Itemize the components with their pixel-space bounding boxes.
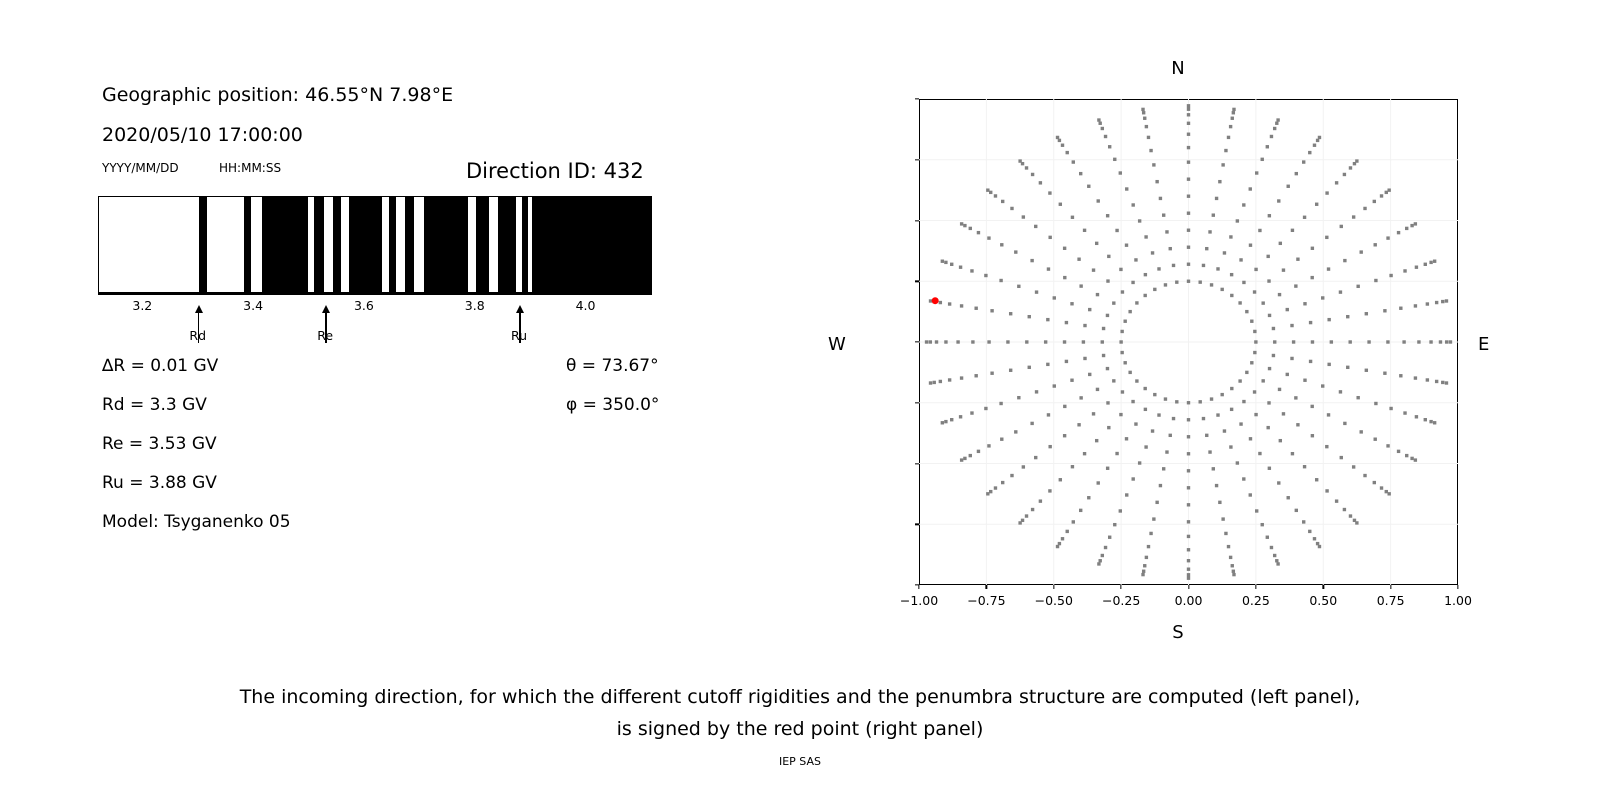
penumbra-forbidden-band xyxy=(349,197,382,292)
direction-point xyxy=(1441,381,1444,384)
direction-point xyxy=(1135,379,1138,382)
direction-point xyxy=(1066,530,1069,533)
direction-point xyxy=(1310,276,1313,279)
direction-point xyxy=(1250,361,1253,364)
direction-point xyxy=(1113,158,1116,161)
direction-point xyxy=(990,372,993,375)
direction-point xyxy=(1397,450,1400,453)
direction-point xyxy=(1121,390,1124,393)
direction-point xyxy=(1245,310,1248,313)
direction-point xyxy=(1198,280,1201,283)
direction-point xyxy=(1128,371,1131,374)
direction-point xyxy=(925,340,928,343)
direction-point xyxy=(1311,340,1314,343)
direction-point xyxy=(1208,230,1211,233)
direction-point xyxy=(1212,213,1215,216)
direction-point xyxy=(1386,444,1389,447)
direction-point xyxy=(960,222,963,225)
direction-point xyxy=(1108,145,1111,148)
direction-point xyxy=(1321,384,1324,387)
direction-point xyxy=(1187,401,1190,404)
direction-point xyxy=(1277,199,1280,202)
direction-point xyxy=(1079,509,1082,512)
direction-point xyxy=(1367,340,1370,343)
direction-point xyxy=(1144,408,1147,411)
direction-point xyxy=(1232,573,1235,576)
direction-point xyxy=(1216,267,1219,270)
direction-point xyxy=(1095,439,1098,442)
scatter-points-layer xyxy=(919,99,1458,585)
direction-point xyxy=(1279,439,1282,442)
direction-point xyxy=(1187,212,1190,215)
direction-point xyxy=(1296,423,1299,426)
direction-point xyxy=(1031,508,1034,511)
direction-point xyxy=(1000,438,1003,441)
direction-point xyxy=(1261,158,1264,161)
direction-point xyxy=(1018,159,1021,162)
direction-point xyxy=(1325,445,1328,448)
direction-point xyxy=(944,261,947,264)
direction-point xyxy=(1261,301,1264,304)
direction-point xyxy=(1082,340,1085,343)
direction-point xyxy=(1115,452,1118,455)
direction-point xyxy=(1162,467,1165,470)
direction-point xyxy=(1035,390,1038,393)
direction-point xyxy=(1155,180,1158,183)
direction-point xyxy=(1187,576,1190,579)
direction-point xyxy=(1287,185,1290,188)
direction-point xyxy=(1107,426,1110,429)
param-theta: θ = 73.67° xyxy=(566,356,659,376)
direction-point xyxy=(987,236,990,239)
direction-point xyxy=(1106,279,1109,282)
direction-point xyxy=(1426,302,1429,305)
direction-point xyxy=(1374,243,1377,246)
direction-point xyxy=(1258,452,1261,455)
direction-point xyxy=(1025,340,1028,343)
direction-point xyxy=(1230,408,1233,411)
direction-point xyxy=(1250,320,1253,323)
direction-point xyxy=(1061,537,1064,540)
direction-point xyxy=(1229,445,1232,448)
direction-point xyxy=(1009,369,1012,372)
direction-point xyxy=(1187,535,1190,538)
direction-point xyxy=(1403,411,1406,414)
caption-line-1: The incoming direction, for which the di… xyxy=(240,686,1361,708)
direction-point xyxy=(1360,430,1363,433)
direction-point xyxy=(1386,236,1389,239)
direction-point xyxy=(1399,307,1402,310)
direction-point xyxy=(1006,340,1009,343)
direction-point xyxy=(1095,242,1098,245)
direction-point xyxy=(1339,390,1342,393)
direction-point xyxy=(1022,465,1025,468)
direction-point xyxy=(1278,388,1281,391)
direction-point xyxy=(1169,247,1172,250)
direction-point xyxy=(1215,197,1218,200)
caption-line-2: is signed by the red point (right panel) xyxy=(617,718,984,740)
direction-point xyxy=(1112,379,1115,382)
direction-point xyxy=(1187,573,1190,576)
direction-point xyxy=(1063,405,1066,408)
direction-point xyxy=(1230,294,1233,297)
direction-point xyxy=(1290,324,1293,327)
direction-point xyxy=(1144,273,1147,276)
direction-point xyxy=(1157,267,1160,270)
direction-point xyxy=(1187,469,1190,472)
direction-point xyxy=(1343,173,1346,176)
direction-point xyxy=(1030,259,1033,262)
direction-point xyxy=(1187,146,1190,149)
direction-point xyxy=(1059,478,1062,481)
y-axis-tick xyxy=(915,220,919,221)
direction-point xyxy=(1149,532,1152,535)
direction-point xyxy=(1229,235,1232,238)
direction-point xyxy=(1236,461,1239,464)
date-format-hint: YYYY/MM/DD xyxy=(102,161,179,175)
direction-point xyxy=(1327,267,1330,270)
direction-point xyxy=(986,188,989,191)
direction-point xyxy=(1266,536,1269,539)
direction-point xyxy=(990,309,993,312)
direction-point xyxy=(1014,430,1017,433)
penumbra-forbidden-band xyxy=(424,197,468,292)
direction-point xyxy=(1056,136,1059,139)
direction-point xyxy=(1363,207,1366,210)
direction-point xyxy=(1232,111,1235,114)
x-tick-label: −1.00 xyxy=(900,593,938,608)
direction-point xyxy=(1210,283,1213,286)
direction-point xyxy=(1175,280,1178,283)
direction-point xyxy=(939,380,942,383)
penumbra-tick-label: 3.6 xyxy=(354,298,374,313)
direction-point xyxy=(1083,357,1086,360)
direction-point xyxy=(999,402,1002,405)
direction-point xyxy=(1282,412,1285,415)
direction-point xyxy=(1270,135,1273,138)
y-axis-tick xyxy=(915,159,919,160)
direction-point xyxy=(1144,445,1147,448)
direction-point xyxy=(948,302,951,305)
direction-point xyxy=(1286,373,1289,376)
direction-point xyxy=(1424,263,1427,266)
direction-point xyxy=(1365,369,1368,372)
direction-point xyxy=(1063,434,1066,437)
time-format-hint: HH:MM:SS xyxy=(219,161,281,175)
direction-point xyxy=(1108,536,1111,539)
direction-point xyxy=(1097,199,1100,202)
direction-point xyxy=(1414,222,1417,225)
direction-point xyxy=(1079,172,1082,175)
direction-point xyxy=(1290,357,1293,360)
direction-point xyxy=(984,274,987,277)
direction-point xyxy=(1087,185,1090,188)
direction-point xyxy=(1048,489,1051,492)
penumbra-tick-label: 4.0 xyxy=(576,298,596,313)
direction-point xyxy=(1107,255,1110,258)
direction-point xyxy=(959,415,962,418)
direction-point xyxy=(1202,264,1205,267)
direction-point xyxy=(1212,467,1215,470)
direction-point xyxy=(1302,160,1305,163)
direction-point xyxy=(1254,268,1257,271)
direction-point xyxy=(960,376,963,379)
direction-point xyxy=(1303,216,1306,219)
direction-point xyxy=(1101,127,1104,130)
direction-point xyxy=(1017,285,1020,288)
direction-point xyxy=(1134,258,1137,261)
direction-point xyxy=(989,191,992,194)
direction-point xyxy=(1187,104,1190,107)
direction-point xyxy=(1433,421,1436,424)
direction-point xyxy=(1147,545,1150,548)
direction-point xyxy=(1077,423,1080,426)
direction-point xyxy=(1034,456,1037,459)
direction-point xyxy=(994,194,997,197)
direction-point xyxy=(1145,125,1148,128)
direction-point xyxy=(1239,258,1242,261)
direction-point xyxy=(1383,372,1386,375)
direction-point xyxy=(959,266,962,269)
direction-point xyxy=(1153,288,1156,291)
direction-point xyxy=(1131,400,1134,403)
direction-point xyxy=(1143,564,1146,567)
direction-point xyxy=(1374,279,1377,282)
direction-point xyxy=(1101,340,1104,343)
direction-point xyxy=(1360,250,1363,253)
penumbra-tick-label: 3.2 xyxy=(132,298,152,313)
direction-point xyxy=(950,263,953,266)
direction-point xyxy=(1380,194,1383,197)
direction-point xyxy=(1294,284,1297,287)
penumbra-forbidden-band xyxy=(498,197,516,292)
direction-point xyxy=(1261,379,1264,382)
direction-point xyxy=(1343,422,1346,425)
direction-point xyxy=(1315,478,1318,481)
direction-point xyxy=(944,420,947,423)
direction-point xyxy=(1120,351,1123,354)
direction-point xyxy=(1268,467,1271,470)
compass-label-west: W xyxy=(828,334,846,355)
direction-point xyxy=(1273,127,1276,130)
direction-point xyxy=(1142,111,1145,114)
direction-point xyxy=(1253,290,1256,293)
direction-point xyxy=(1039,181,1042,184)
direction-point xyxy=(1399,374,1402,377)
direction-point xyxy=(1415,415,1418,418)
direction-point xyxy=(1187,113,1190,116)
direction-point xyxy=(1115,229,1118,232)
direction-point xyxy=(1187,548,1190,551)
direction-point xyxy=(1313,537,1316,540)
direction-point xyxy=(1187,486,1190,489)
direction-point xyxy=(1309,321,1312,324)
direction-point xyxy=(1405,227,1408,230)
direction-point xyxy=(1296,258,1299,261)
direction-point xyxy=(1058,139,1061,142)
direction-point xyxy=(1125,437,1128,440)
direction-point xyxy=(1343,508,1346,511)
y-axis-tick xyxy=(915,463,919,464)
direction-point xyxy=(1009,312,1012,315)
direction-point xyxy=(1152,517,1155,520)
direction-point xyxy=(1273,340,1276,343)
x-axis-tick xyxy=(1323,585,1324,589)
direction-point xyxy=(1349,166,1352,169)
y-axis-tick xyxy=(915,341,919,342)
direction-point xyxy=(1125,243,1128,246)
direction-point xyxy=(1151,429,1154,432)
direction-point xyxy=(1355,521,1358,524)
direction-point xyxy=(1340,225,1343,228)
penumbra-forbidden-band xyxy=(405,197,414,292)
y-axis-tick xyxy=(915,281,919,282)
direction-point xyxy=(1272,327,1275,330)
direction-point xyxy=(1363,474,1366,477)
direction-point xyxy=(1063,247,1066,250)
direction-point xyxy=(963,457,966,460)
direction-point xyxy=(1273,554,1276,557)
direction-point xyxy=(1187,568,1190,571)
direction-point xyxy=(1143,387,1146,390)
direction-point xyxy=(1410,224,1413,227)
direction-point xyxy=(1385,191,1388,194)
direction-point xyxy=(1047,413,1050,416)
direction-point xyxy=(1131,281,1134,284)
direction-point xyxy=(1445,340,1448,343)
direction-point xyxy=(1025,166,1028,169)
direction-point xyxy=(1449,340,1452,343)
param-delta-r: ∆R = 0.01 GV xyxy=(102,356,218,376)
penumbra-forbidden-band xyxy=(333,197,341,292)
direction-point xyxy=(1077,258,1080,261)
direction-point xyxy=(1079,284,1082,287)
direction-point xyxy=(1155,501,1158,504)
direction-point xyxy=(1249,187,1252,190)
direction-point xyxy=(1220,393,1223,396)
direction-point xyxy=(1066,151,1069,154)
direction-point xyxy=(1102,327,1105,330)
direction-point xyxy=(1239,422,1242,425)
param-rd: Rd = 3.3 GV xyxy=(102,395,207,415)
direction-point xyxy=(1119,171,1122,174)
geographic-position-label: Geographic position: 46.55°N 7.98°E xyxy=(102,84,453,106)
direction-point xyxy=(1303,302,1306,305)
direction-point xyxy=(1266,255,1269,258)
direction-point xyxy=(1242,400,1245,403)
direction-point xyxy=(1187,246,1190,249)
direction-point xyxy=(1070,379,1073,382)
direction-point xyxy=(1083,229,1086,232)
direction-point xyxy=(1230,387,1233,390)
direction-point xyxy=(1104,546,1107,549)
direction-point xyxy=(1402,340,1405,343)
rigidity-marker-label-rd: Rd xyxy=(189,328,206,343)
direction-point xyxy=(1070,302,1073,305)
x-axis-tick xyxy=(918,585,919,589)
direction-point xyxy=(956,340,959,343)
direction-point xyxy=(1010,474,1013,477)
footer-attribution: IEP SAS xyxy=(779,755,821,768)
penumbra-tick-label: 3.4 xyxy=(243,298,263,313)
direction-point xyxy=(1022,215,1025,218)
direction-point xyxy=(1414,458,1417,461)
direction-point xyxy=(1121,290,1124,293)
direction-point xyxy=(1221,517,1224,520)
direction-point xyxy=(1308,151,1311,154)
direction-point xyxy=(1046,363,1049,366)
direction-point xyxy=(1295,509,1298,512)
direction-point xyxy=(1343,259,1346,262)
penumbra-bar xyxy=(98,196,652,293)
compass-label-north: N xyxy=(1171,58,1184,79)
direction-point xyxy=(1266,426,1269,429)
direction-point xyxy=(1159,484,1162,487)
direction-point xyxy=(1426,378,1429,381)
direction-point xyxy=(1059,203,1062,206)
direction-point xyxy=(1445,381,1448,384)
direction-point xyxy=(1065,360,1068,363)
direction-point xyxy=(1374,438,1377,441)
direction-point xyxy=(986,492,989,495)
direction-point xyxy=(1380,486,1383,489)
x-axis-tick xyxy=(1457,585,1458,589)
direction-point xyxy=(929,381,932,384)
direction-point xyxy=(1000,243,1003,246)
direction-point xyxy=(1229,556,1232,559)
direction-point xyxy=(1063,340,1066,343)
direction-point xyxy=(1313,144,1316,147)
direction-point xyxy=(1153,393,1156,396)
direction-point xyxy=(1268,314,1271,317)
direction-point xyxy=(1151,251,1154,254)
direction-point xyxy=(1223,429,1226,432)
param-phi: φ = 350.0° xyxy=(566,395,659,415)
direction-point xyxy=(1414,376,1417,379)
penumbra-axis-line xyxy=(98,293,652,295)
direction-point xyxy=(1291,452,1294,455)
y-axis-tick xyxy=(915,402,919,403)
direction-point xyxy=(1303,379,1306,382)
direction-point xyxy=(1017,396,1020,399)
direction-point xyxy=(1335,499,1338,502)
direction-point xyxy=(1352,465,1355,468)
direction-point xyxy=(1311,247,1314,250)
direction-point xyxy=(1159,197,1162,200)
direction-point xyxy=(999,279,1002,282)
direction-point xyxy=(933,381,936,384)
direction-point xyxy=(1106,314,1109,317)
incoming-direction-scatter-plot xyxy=(919,99,1458,585)
x-tick-label: −0.25 xyxy=(1102,593,1140,608)
penumbra-forbidden-band xyxy=(199,197,207,292)
direction-point xyxy=(1106,214,1109,217)
direction-point xyxy=(1227,545,1230,548)
direction-point xyxy=(1316,139,1319,142)
direction-point xyxy=(1123,361,1126,364)
direction-point xyxy=(989,490,992,493)
direction-point xyxy=(1221,163,1224,166)
direction-point xyxy=(1321,296,1324,299)
direction-point xyxy=(1258,229,1261,232)
direction-point xyxy=(1339,290,1342,293)
direction-point xyxy=(1433,260,1436,263)
direction-point xyxy=(1236,219,1239,222)
direction-point xyxy=(941,421,944,424)
direction-point xyxy=(1048,236,1051,239)
direction-point xyxy=(1441,300,1444,303)
penumbra-forbidden-band xyxy=(476,197,489,292)
